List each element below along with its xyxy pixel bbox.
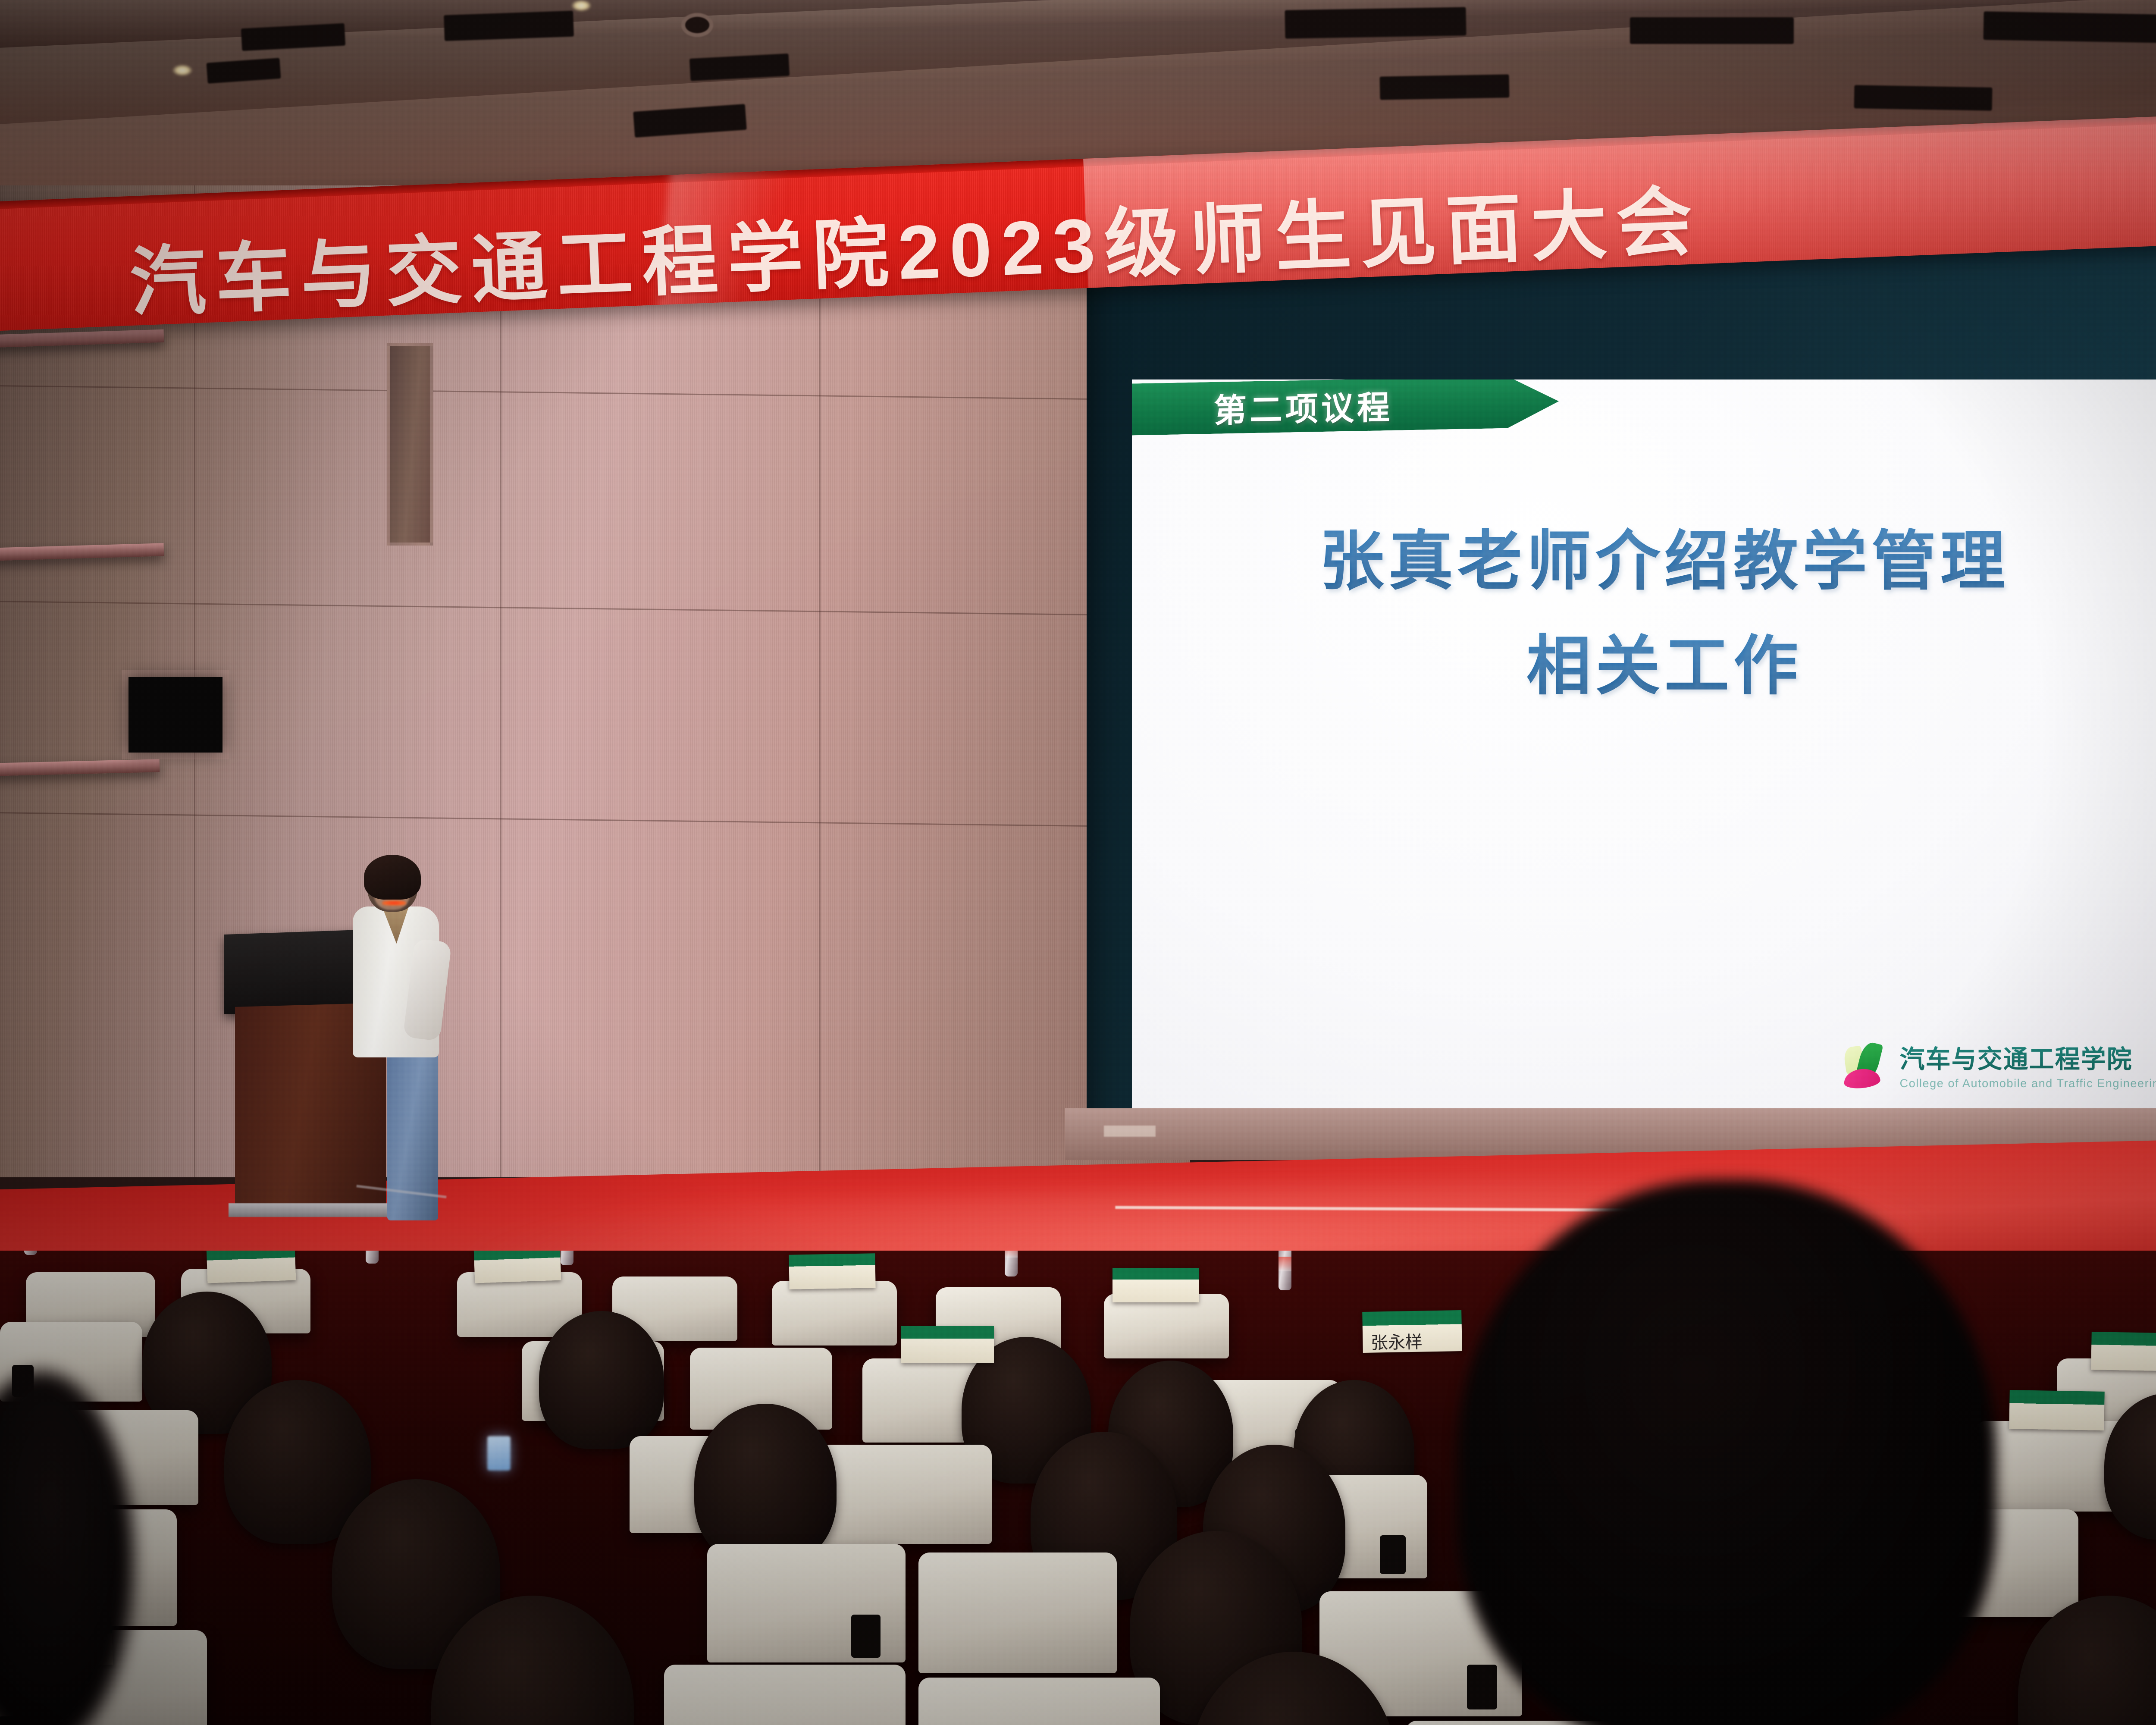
seat	[918, 1552, 1117, 1673]
speaker-at-podium	[341, 858, 448, 1216]
phone-screen	[487, 1436, 511, 1471]
ceiling-slot	[1380, 74, 1510, 100]
water-bottle	[1005, 1251, 1018, 1276]
stage-side-door[interactable]	[387, 343, 433, 546]
name-card	[2091, 1332, 2156, 1371]
logo-name-cn: 汽车与交通工程学院	[1900, 1039, 2156, 1075]
ceiling-spotlight	[571, 0, 591, 11]
auditorium-photo: 第二项议程 张真老师介绍教学管理 相关工作 汽车与交通工程学院 College …	[0, 0, 2156, 1725]
name-card: 张永样	[1362, 1310, 1462, 1353]
seat	[664, 1665, 906, 1725]
college-logo: 汽车与交通工程学院 College of Automobile and Traf…	[1840, 1039, 2156, 1090]
name-card-text: 张永样	[1370, 1327, 1454, 1354]
name-card	[789, 1253, 875, 1289]
water-bottle	[24, 1251, 37, 1255]
seat	[819, 1445, 992, 1544]
seat	[918, 1678, 1160, 1725]
leaf-logo-icon	[1840, 1041, 1892, 1089]
logo-name-en: College of Automobile and Traffic Engine…	[1900, 1077, 2156, 1090]
foreground-silhouette-head	[1457, 1179, 1996, 1725]
seat	[772, 1281, 897, 1345]
agenda-ribbon: 第二项议程	[1132, 379, 1559, 436]
audience-head	[539, 1311, 664, 1449]
wall-mounted-monitor	[128, 677, 222, 753]
presentation-slide: 第二项议程 张真老师介绍教学管理 相关工作 汽车与交通工程学院 College …	[1132, 379, 2156, 1113]
audience-head	[694, 1404, 837, 1565]
slide-title-line-1: 张真老师介绍教学管理	[1132, 509, 2156, 614]
screen-ledge-label	[1104, 1126, 1156, 1137]
name-card	[207, 1251, 296, 1283]
ceiling-spotlight	[172, 65, 192, 76]
ceiling-slot	[444, 11, 574, 41]
slide-title-line-2: 相关工作	[1132, 614, 2156, 718]
name-card	[901, 1326, 994, 1363]
water-bottle	[561, 1251, 573, 1265]
agenda-label: 第二项议程	[1214, 381, 1393, 432]
ceiling-downlight-ring	[681, 13, 713, 37]
microphone-led-icon	[382, 900, 406, 906]
water-bottle	[366, 1251, 379, 1264]
name-card	[1112, 1268, 1199, 1302]
ceiling-slot	[1630, 17, 1794, 44]
seat	[1104, 1294, 1229, 1358]
name-card	[474, 1251, 561, 1283]
slide-title-block: 张真老师介绍教学管理 相关工作	[1132, 509, 2156, 718]
seat	[707, 1544, 906, 1662]
ceiling-slot	[1983, 11, 2156, 43]
ceiling-slot	[1285, 7, 1466, 38]
ceiling-slot	[1854, 85, 1993, 111]
water-bottle	[1279, 1251, 1291, 1290]
name-card	[2009, 1390, 2105, 1430]
